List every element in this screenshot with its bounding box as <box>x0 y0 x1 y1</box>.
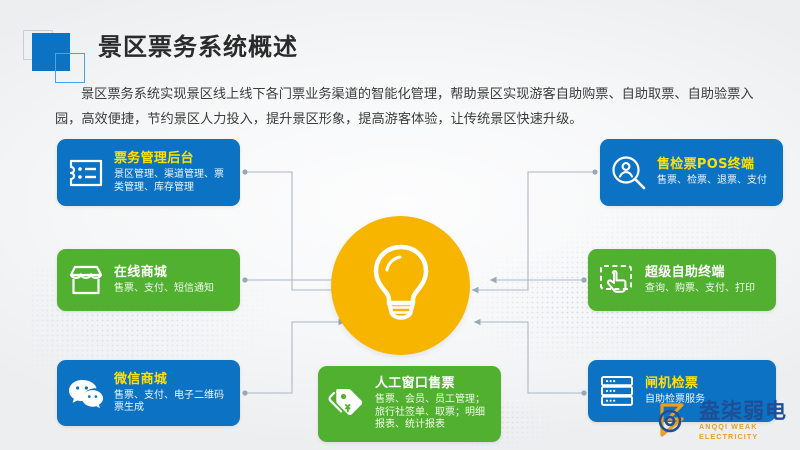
card-pos-terminal[interactable]: 售检票POS终端 售票、检票、退票、支付 <box>600 139 783 206</box>
card-manual-counter[interactable]: 人工窗口售票 售票、会员、员工管理；旅行社签单、取票；明细报表、统计报表 <box>318 366 501 442</box>
touch-screen-icon <box>596 259 638 301</box>
price-tag-icon <box>326 383 368 425</box>
wire-endpoint-dot <box>581 277 586 282</box>
decorative-square-outline-blue <box>55 53 85 83</box>
card-self-service-terminal[interactable]: 超级自助终端 查询、购票、支付、打印 <box>588 249 776 311</box>
wire-endpoint-dot <box>592 169 597 174</box>
card-wechat-mall[interactable]: 微信商城 售票、支付、电子二维码票生成 <box>57 360 240 426</box>
central-hub <box>331 216 470 355</box>
card-title: 在线商城 <box>114 265 230 281</box>
wire-endpoint-dot <box>581 390 586 395</box>
card-online-mall[interactable]: 在线商城 售票、支付、短信通知 <box>57 249 240 311</box>
wire-backend-to-hub <box>245 172 345 290</box>
wire-endpoint-dot <box>242 390 247 395</box>
intro-paragraph: 景区票务系统实现景区线上线下各门票业务渠道的智能化管理，帮助景区实现游客自助购票… <box>55 82 755 132</box>
watermark-company-en: ANQQI WEAK ELECTRICITY <box>699 422 800 442</box>
lightbulb-icon <box>368 242 434 329</box>
gate-server-icon <box>596 370 638 412</box>
card-description: 景区管理、渠道管理、票类管理、库存管理 <box>114 169 230 194</box>
card-title: 票务管理后台 <box>114 151 230 167</box>
company-logo-icon <box>648 399 696 443</box>
wire-pos-to-hub <box>472 172 595 290</box>
ticket-list-icon <box>65 152 107 194</box>
card-title: 人工窗口售票 <box>375 376 491 392</box>
user-search-icon <box>608 152 650 194</box>
storefront-icon <box>65 259 107 301</box>
card-title: 闸机检票 <box>645 376 766 392</box>
card-description: 售票、支付、短信通知 <box>114 283 230 296</box>
wechat-icon <box>65 372 107 414</box>
watermark-company-cn: 盎柒弱电 <box>699 400 800 422</box>
wire-endpoint-dot <box>242 277 247 282</box>
card-description: 查询、购票、支付、打印 <box>645 283 766 296</box>
card-description: 售票、检票、退票、支付 <box>657 175 773 188</box>
watermark-logo: 盎柒弱电 ANQQI WEAK ELECTRICITY <box>648 396 800 446</box>
card-title: 超级自助终端 <box>645 265 766 281</box>
card-title: 微信商城 <box>114 372 230 388</box>
card-title: 售检票POS终端 <box>657 157 773 173</box>
card-description: 售票、支付、电子二维码票生成 <box>114 390 230 415</box>
card-ticket-backend[interactable]: 票务管理后台 景区管理、渠道管理、票类管理、库存管理 <box>57 139 240 206</box>
page-title: 景区票务系统概述 <box>98 27 298 62</box>
wire-endpoint-dot <box>242 169 247 174</box>
slide-canvas: 景区票务系统概述 景区票务系统实现景区线上线下各门票业务渠道的智能化管理，帮助景… <box>0 0 800 450</box>
card-description: 售票、会员、员工管理；旅行社签单、取票；明细报表、统计报表 <box>375 394 491 432</box>
